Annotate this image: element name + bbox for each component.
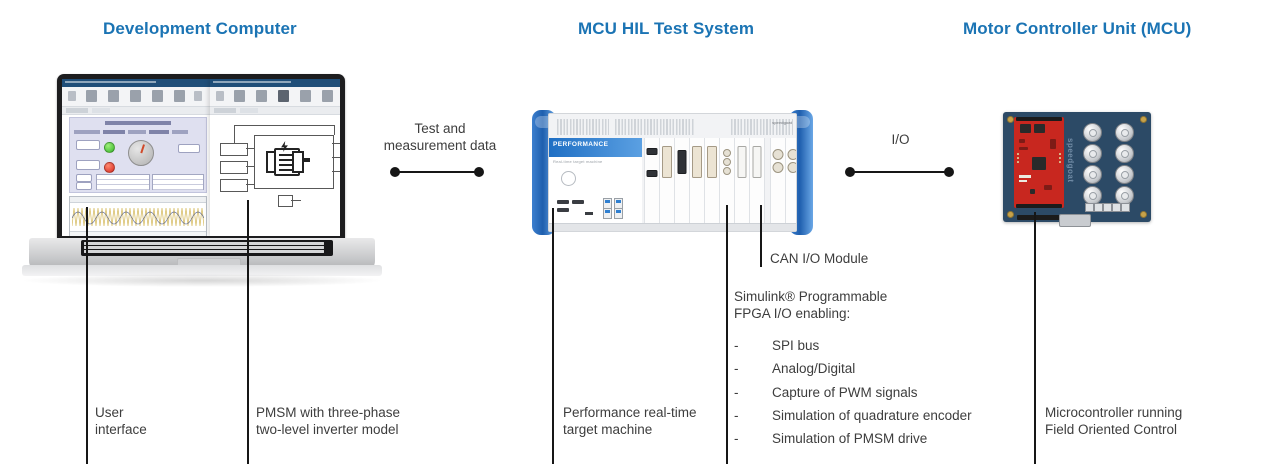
chassis-foot (549, 223, 796, 231)
io-slot-3[interactable]: 3 (674, 138, 690, 223)
io-slot-9[interactable]: 9 (770, 138, 786, 223)
annotation-pmsm-model-l1: PMSM with three-phase (256, 404, 400, 421)
list-item-label: Simulation of PMSM drive (772, 431, 927, 446)
list-item-label: Capture of PWM signals (772, 385, 918, 400)
list-item-marker: - (734, 404, 772, 427)
model-window-titlebar (210, 79, 340, 87)
speedgoat-carrier-board: speedgoat (1003, 112, 1151, 222)
target-machine-tagline: Real-time target machine (553, 159, 603, 164)
annotation-user-interface-l1: User (95, 404, 147, 421)
development-computer-laptop (22, 74, 382, 289)
annotation-user-interface-l2: interface (95, 421, 147, 438)
list-item-label: Simulation of quadrature encoder (772, 408, 972, 423)
list-item: -Simulation of PMSM drive (734, 427, 972, 450)
connector-label-io: I/O (848, 131, 953, 148)
scope-block (278, 195, 293, 207)
power-button[interactable] (561, 171, 576, 186)
motor-controller-unit-board: speedgoat (1003, 112, 1151, 222)
io-slot-2[interactable]: 2 (659, 138, 675, 223)
connector-label-test-measurement: Test and measurement data (372, 120, 508, 154)
list-item-marker: - (734, 357, 772, 380)
io-slot-5[interactable]: 5 (704, 138, 720, 223)
model-window-toolbar (210, 87, 340, 107)
laptop-lid (57, 74, 345, 242)
simulink-dashboard-window (62, 79, 215, 236)
connector-label-line1: Test and (372, 120, 508, 137)
connector-line-test-measurement (395, 171, 480, 173)
microcontroller-board (1014, 117, 1064, 208)
leader-line-target-machine (552, 208, 554, 464)
list-item: -Analog/Digital (734, 357, 972, 380)
annotation-fpga-l2: FPGA I/O enabling: (734, 305, 887, 322)
dashboard-knob (128, 140, 154, 166)
dashboard-panel (69, 117, 207, 193)
bnc-connector-1[interactable] (1083, 123, 1102, 142)
scope-plot (69, 196, 207, 236)
simulink-block-diagram (214, 117, 336, 230)
window-tabs (62, 107, 214, 115)
status-lamp-green (104, 142, 115, 153)
bnc-connector-4[interactable] (1115, 144, 1134, 163)
diagram-canvas: Development Computer MCU HIL Test System… (0, 0, 1280, 464)
list-item-label: SPI bus (772, 338, 819, 353)
dashboard-table-left (96, 174, 150, 190)
annotation-target-machine-l2: target machine (563, 421, 697, 438)
list-item-marker: - (734, 334, 772, 357)
list-item: -Capture of PWM signals (734, 381, 972, 404)
target-machine-front-panel: PERFORMANCE Real-time target machine (549, 138, 642, 231)
bnc-connector-2[interactable] (1115, 123, 1134, 142)
heading-mcu-hil-test-system: MCU HIL Test System (578, 19, 754, 39)
performance-label: PERFORMANCE (553, 141, 608, 148)
simulink-model-window (210, 79, 340, 236)
chassis-brand-mark: speedgoat (772, 120, 792, 125)
annotation-pmsm-model: PMSM with three-phase two-level inverter… (256, 404, 400, 438)
annotation-user-interface: User interface (95, 404, 147, 438)
connector-label-io-text: I/O (848, 131, 953, 148)
io-slot-7[interactable]: 7 (734, 138, 750, 223)
annotation-mcu-l1: Microcontroller running (1045, 404, 1182, 421)
list-item: -Simulation of quadrature encoder (734, 404, 972, 427)
window-titlebar (62, 79, 214, 87)
model-window-tabs (210, 107, 340, 115)
laptop-screen (62, 79, 340, 236)
annotation-mcu-l2: Field Oriented Control (1045, 421, 1182, 438)
io-slot-4[interactable]: 4 (689, 138, 705, 223)
io-slot-1[interactable]: 1 (644, 138, 660, 223)
display-ports-2 (557, 199, 572, 217)
io-slot-8[interactable]: 8 (749, 138, 765, 223)
list-item-marker: - (734, 381, 772, 404)
heading-motor-controller-unit: Motor Controller Unit (MCU) (963, 19, 1191, 39)
annotation-target-machine-l1: Performance real-time (563, 404, 697, 421)
bnc-connector-5[interactable] (1083, 165, 1102, 184)
window-toolbar (62, 87, 214, 107)
status-lamp-red (104, 162, 115, 173)
performance-banner: PERFORMANCE (549, 138, 642, 157)
annotation-can-io-module: CAN I/O Module (770, 250, 868, 267)
motor-icon (266, 145, 308, 175)
leader-line-mcu (1034, 212, 1036, 464)
leader-line-fpga-io (726, 205, 728, 464)
list-item-marker: - (734, 427, 772, 450)
leader-line-can-module (760, 205, 762, 267)
annotation-pmsm-model-l2: two-level inverter model (256, 421, 400, 438)
scope-waveform (72, 204, 204, 230)
dsub-connector[interactable] (1059, 214, 1091, 227)
laptop-keyboard (81, 240, 333, 256)
io-module-slots: 1 2 3 4 5 (644, 138, 794, 223)
heading-development-computer: Development Computer (103, 19, 297, 39)
annotation-fpga-l1: Simulink® Programmable (734, 288, 887, 305)
bnc-connector-3[interactable] (1083, 144, 1102, 163)
fpga-capability-list: -SPI bus -Analog/Digital -Capture of PWM… (734, 334, 972, 450)
annotation-target-machine: Performance real-time target machine (563, 404, 697, 438)
laptop-shadow (24, 274, 380, 287)
leader-line-user-interface (86, 207, 88, 464)
list-item: -SPI bus (734, 334, 972, 357)
annotation-fpga-io: Simulink® Programmable FPGA I/O enabling… (734, 288, 887, 322)
bnc-connector-6[interactable] (1115, 165, 1134, 184)
connector-dot-right (474, 167, 484, 177)
connector-label-line2: measurement data (372, 137, 508, 154)
carrier-brand-text: speedgoat (1066, 138, 1075, 183)
annotation-mcu: Microcontroller running Field Oriented C… (1045, 404, 1182, 438)
connector-line-io (850, 171, 950, 173)
io-dot-right (944, 167, 954, 177)
speedgoat-target-machine: speedgoat PERFORMANCE Real-time target m… (532, 110, 813, 235)
io-slot-10-can[interactable]: 10 (785, 138, 797, 223)
dashboard-table-right (152, 174, 204, 190)
list-item-label: Analog/Digital (772, 361, 855, 376)
leader-line-pmsm-model (247, 200, 249, 464)
